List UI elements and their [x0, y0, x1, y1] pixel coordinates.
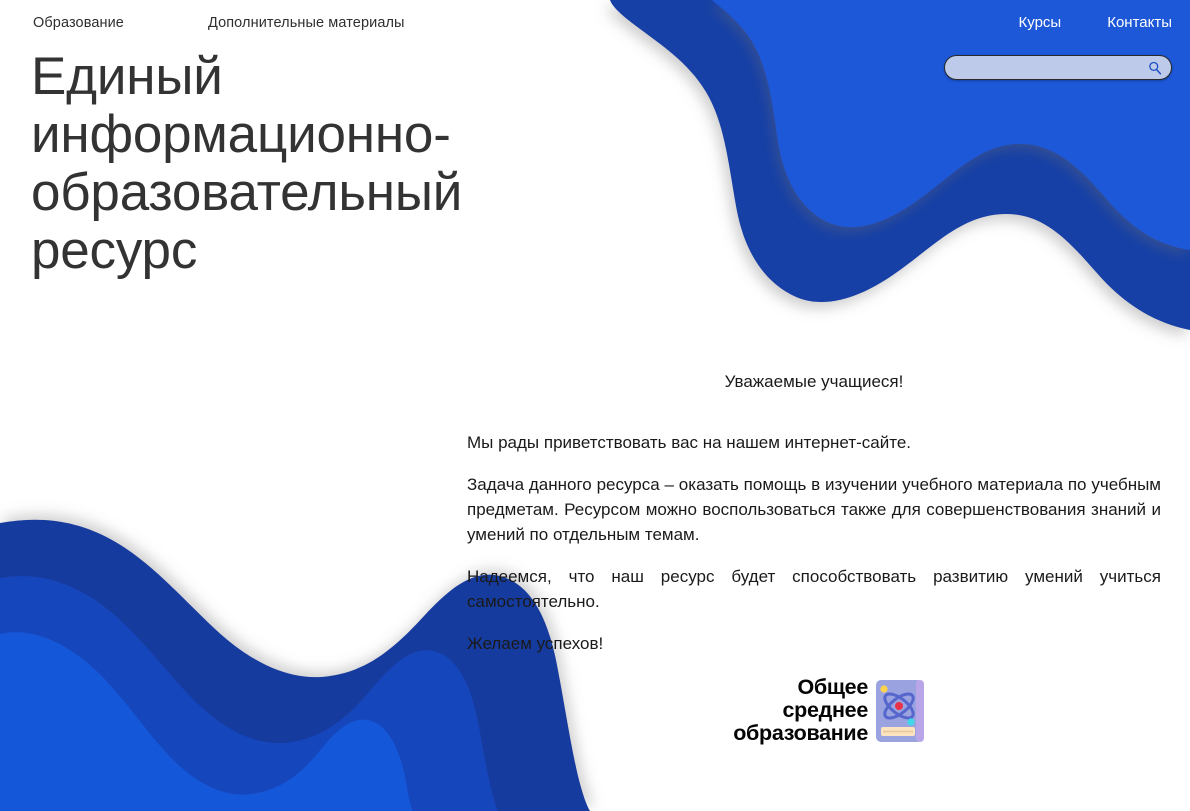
wave-top-light — [712, 0, 1190, 250]
welcome-content: Уважаемые учащиеся! Мы рады приветствова… — [467, 370, 1161, 673]
primary-nav-right: Курсы Контакты — [1019, 14, 1173, 31]
nav-link-kursy[interactable]: Курсы — [1019, 14, 1062, 31]
wave-bottom-mid — [0, 576, 498, 811]
site-logo[interactable]: Общее среднее образование — [668, 676, 926, 745]
search-box[interactable] — [944, 55, 1172, 80]
content-greeting: Уважаемые учащиеся! — [467, 370, 1161, 394]
content-body: Мы рады приветствовать вас на нашем инте… — [467, 430, 1161, 656]
primary-nav-left: Образование Дополнительные материалы — [33, 15, 405, 31]
book-atom-icon — [874, 678, 926, 744]
nav-link-obrazovanie[interactable]: Образование — [33, 15, 124, 31]
wave-top-dark — [610, 0, 1190, 330]
search-icon[interactable] — [1148, 61, 1162, 75]
nav-link-dopolnitelnye-materialy[interactable]: Дополнительные материалы — [208, 15, 405, 31]
content-paragraph: Надеемся, что наш ресурс будет способств… — [467, 564, 1161, 614]
logo-text: Общее среднее образование — [733, 676, 868, 745]
logo-line-1: Общее — [733, 676, 868, 699]
search-bar — [944, 55, 1172, 80]
page-title: Единый информационно-образовательный рес… — [31, 48, 601, 280]
logo-line-3: образование — [733, 722, 868, 745]
nav-link-kontakty[interactable]: Контакты — [1107, 14, 1172, 31]
content-paragraph: Задача данного ресурса – оказать помощь … — [467, 472, 1161, 547]
search-input[interactable] — [945, 56, 1171, 79]
landing-page: Образование Дополнительные материалы Кур… — [0, 0, 1190, 811]
content-paragraph: Желаем успехов! — [467, 631, 1161, 656]
logo-line-2: среднее — [733, 699, 868, 722]
wave-bottom-bright — [0, 632, 413, 811]
content-paragraph: Мы рады приветствовать вас на нашем инте… — [467, 430, 1161, 455]
